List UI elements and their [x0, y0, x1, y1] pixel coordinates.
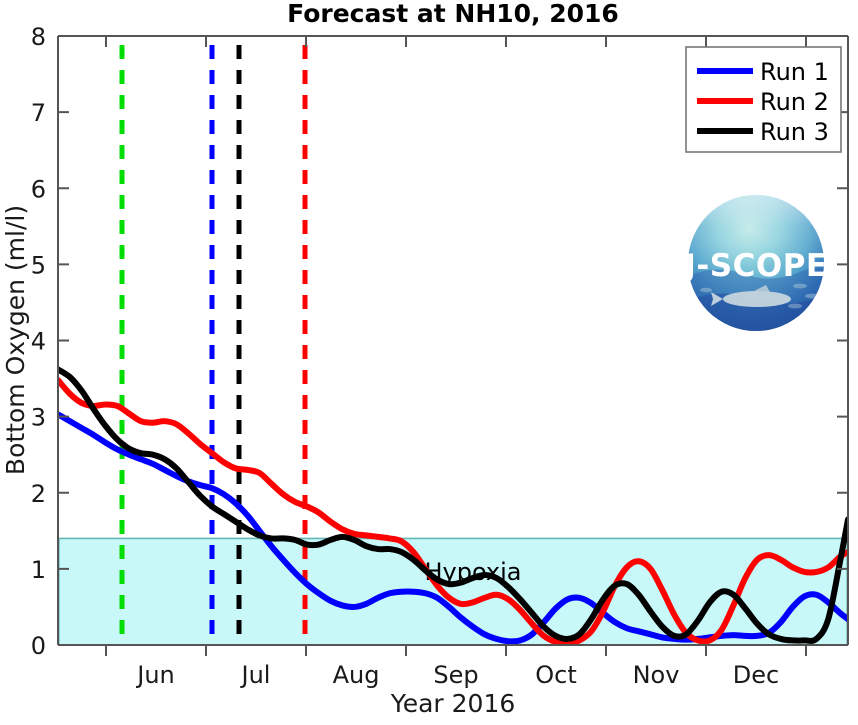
x-tick-label-dec: Dec	[733, 661, 779, 689]
x-tick-label-oct: Oct	[535, 661, 577, 689]
legend: Run 1 Run 2 Run 3	[686, 47, 841, 152]
chart-canvas: Forecast at NH10, 2016 Hypoxia 012345678	[0, 0, 858, 725]
forecast-chart-figure: Forecast at NH10, 2016 Hypoxia 012345678	[0, 0, 858, 725]
legend-label-run-1: Run 1	[760, 58, 829, 86]
x-tick-label-nov: Nov	[633, 661, 680, 689]
y-tick-label: 0	[31, 632, 46, 660]
x-tick-label-sep: Sep	[433, 661, 478, 689]
logo-text: J-SCOPE	[682, 248, 827, 284]
legend-label-run-3: Run 3	[760, 118, 829, 146]
y-tick-label: 6	[31, 175, 46, 203]
y-tick-label: 5	[31, 251, 46, 279]
x-tick-label-jul: Jul	[240, 661, 271, 689]
x-axis-title: Year 2016	[390, 689, 516, 718]
x-tick-label-jun: Jun	[135, 661, 175, 689]
y-tick-label: 2	[31, 480, 46, 508]
y-tick-label: 8	[31, 23, 46, 51]
legend-label-run-2: Run 2	[760, 88, 829, 116]
y-axis-title: Bottom Oxygen (ml/l)	[1, 205, 30, 475]
y-tick-label: 4	[31, 328, 46, 356]
page-title: Forecast at NH10, 2016	[287, 0, 619, 28]
x-tick-label-aug: Aug	[333, 661, 380, 689]
y-tick-label: 7	[31, 99, 46, 127]
y-tick-label: 3	[31, 404, 46, 432]
y-tick-label: 1	[31, 556, 46, 584]
logo-fish-body	[723, 291, 791, 307]
